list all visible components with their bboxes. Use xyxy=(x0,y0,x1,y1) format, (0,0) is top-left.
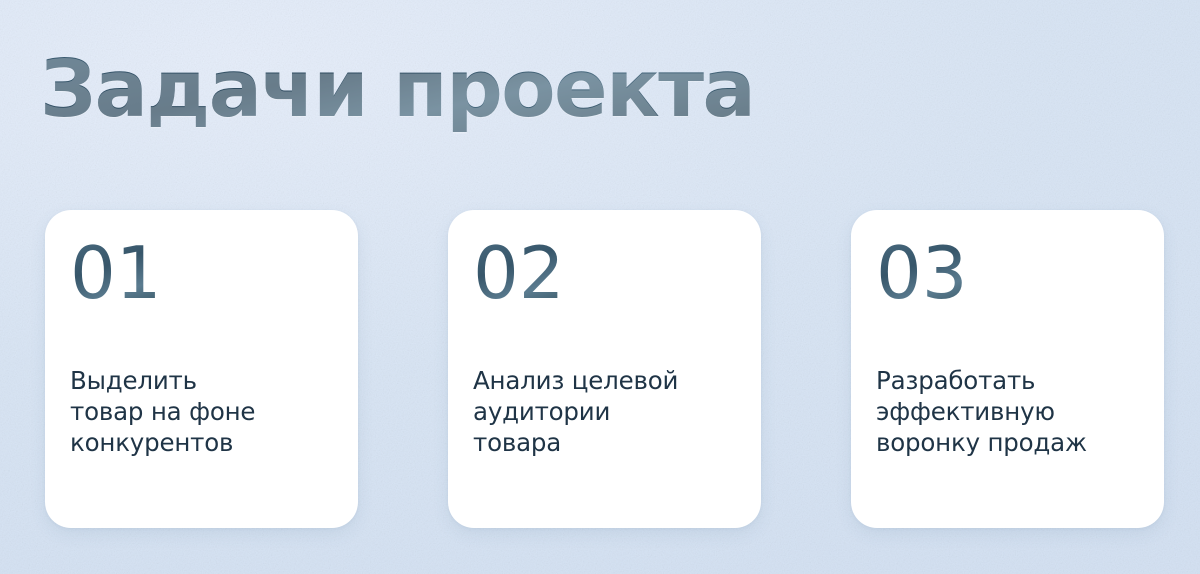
task-card-01[interactable]: 01 Выделить товар на фоне конкурентов xyxy=(45,210,358,528)
task-card-text: Разработать эффективную воронку продаж xyxy=(876,365,1148,458)
task-card-number: 03 xyxy=(876,236,968,310)
task-card-03[interactable]: 03 Разработать эффективную воронку прода… xyxy=(851,210,1164,528)
task-card-number: 01 xyxy=(70,236,162,310)
task-card-text: Анализ целевой аудитории товара xyxy=(473,365,745,458)
slide-canvas: Задачи проекта 01 Выделить товар на фоне… xyxy=(0,0,1200,574)
task-cards-row: 01 Выделить товар на фоне конкурентов 02… xyxy=(45,210,1200,528)
task-card-number: 02 xyxy=(473,236,565,310)
page-title: Задачи проекта xyxy=(40,46,754,132)
task-card-02[interactable]: 02 Анализ целевой аудитории товара xyxy=(448,210,761,528)
task-card-text: Выделить товар на фоне конкурентов xyxy=(70,365,342,458)
